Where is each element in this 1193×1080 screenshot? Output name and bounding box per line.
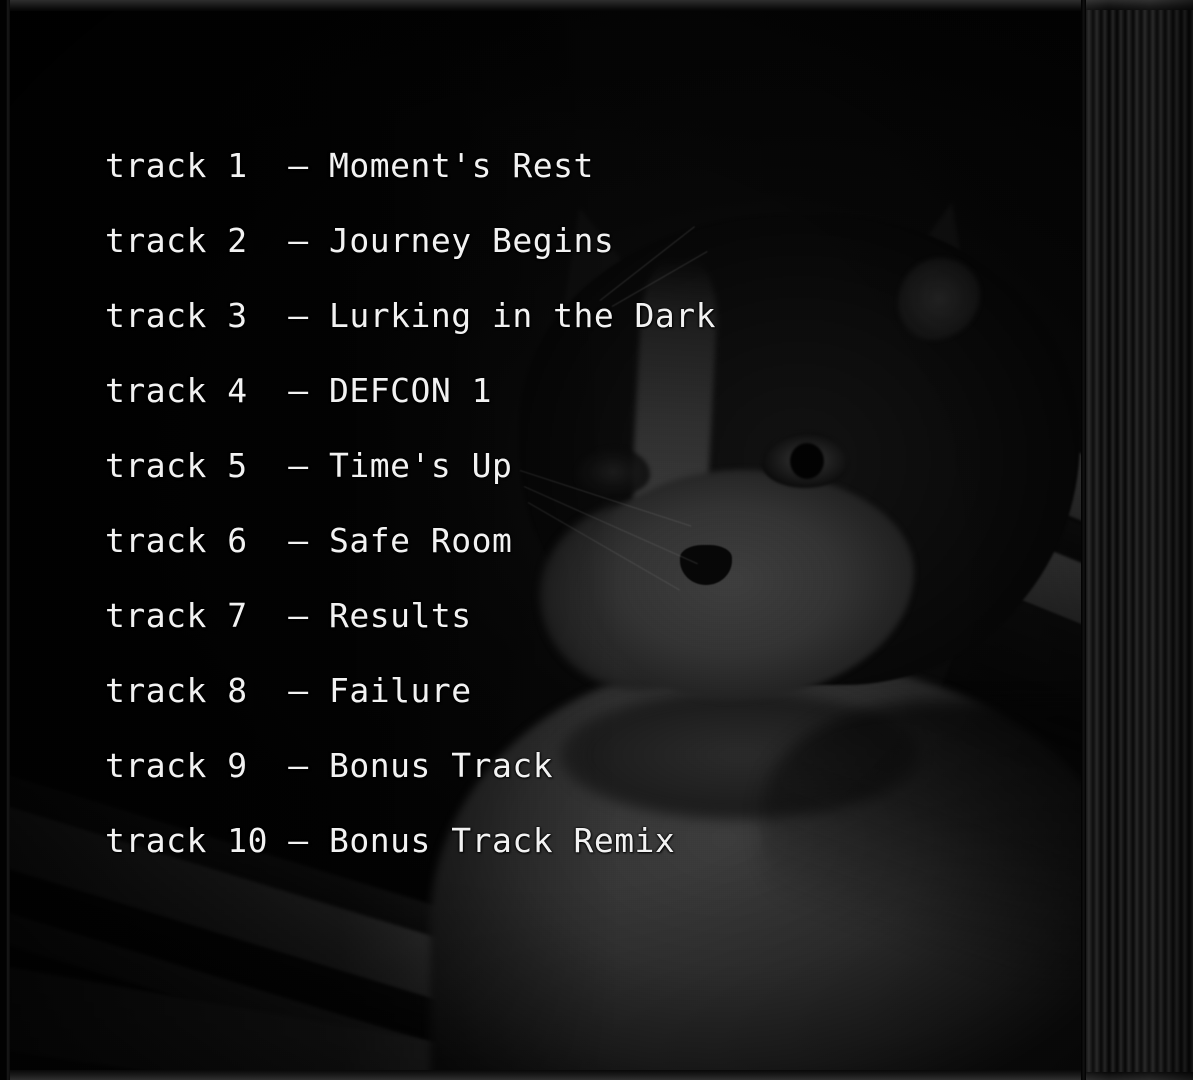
spine-ridges bbox=[1085, 10, 1193, 1072]
case-edge-top bbox=[0, 0, 1085, 11]
track-row: track 4 — DEFCON 1 bbox=[105, 353, 885, 428]
case-edge-bottom bbox=[0, 1070, 1085, 1080]
tracklist: track 1 — Moment's Rest track 2 — Journe… bbox=[105, 128, 885, 878]
track-row: track 7 — Results bbox=[105, 578, 885, 653]
track-row: track 5 — Time's Up bbox=[105, 428, 885, 503]
track-row: track 8 — Failure bbox=[105, 653, 885, 728]
cd-jewel-case: track 1 — Moment's Rest track 2 — Journe… bbox=[0, 0, 1193, 1080]
track-row: track 9 — Bonus Track bbox=[105, 728, 885, 803]
track-row: track 2 — Journey Begins bbox=[105, 203, 885, 278]
track-row: track 6 — Safe Room bbox=[105, 503, 885, 578]
track-row: track 3 — Lurking in the Dark bbox=[105, 278, 885, 353]
jewel-case-spine bbox=[1085, 0, 1193, 1080]
spine-cap-top bbox=[1085, 0, 1193, 10]
case-edge-left bbox=[6, 0, 10, 1080]
track-row: track 10 — Bonus Track Remix bbox=[105, 803, 885, 878]
case-hinge bbox=[1081, 0, 1086, 1080]
track-row: track 1 — Moment's Rest bbox=[105, 128, 885, 203]
spine-cap-bottom bbox=[1085, 1072, 1193, 1080]
